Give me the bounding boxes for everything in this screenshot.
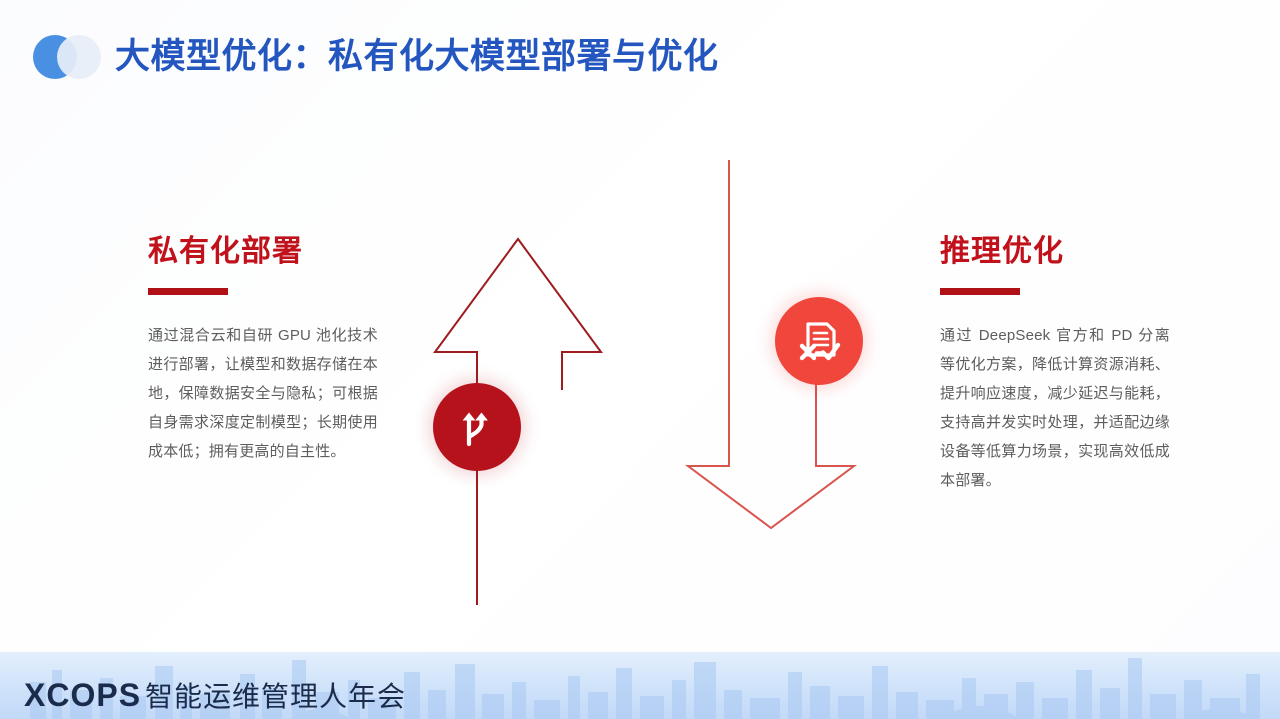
column-body-text: 通过 DeepSeek 官方和 PD 分离等优化方案，降低计算资源消耗、提升响应… xyxy=(940,321,1170,495)
logo-circle-secondary xyxy=(57,35,101,79)
branching-arrows-icon xyxy=(453,403,501,451)
brand-name: XCOPS xyxy=(24,679,141,711)
heading-underline-rule xyxy=(940,288,1020,295)
column-inference-optimization: 推理优化 通过 DeepSeek 官方和 PD 分离等优化方案，降低计算资源消耗… xyxy=(940,230,1170,495)
deploy-badge xyxy=(433,383,521,471)
slide-header: 大模型优化：私有化大模型部署与优化 xyxy=(0,0,1280,110)
two-overlapping-circles-logo-icon xyxy=(33,35,101,79)
slide-canvas: 大模型优化：私有化大模型部署与优化 私有化部署 通过混合云和自研 GPU 池化技… xyxy=(0,0,1280,719)
heading-underline-rule xyxy=(148,288,228,295)
footer-banner: XCOPS 智能运维管理人年会 xyxy=(0,652,1280,719)
column-private-deployment: 私有化部署 通过混合云和自研 GPU 池化技术进行部署，让模型和数据存储在本地，… xyxy=(148,230,378,466)
column-body-text: 通过混合云和自研 GPU 池化技术进行部署，让模型和数据存储在本地，保障数据安全… xyxy=(148,321,378,466)
document-check-cross-icon xyxy=(794,316,844,366)
column-heading: 推理优化 xyxy=(940,230,1170,274)
footer-brand-lockup: XCOPS 智能运维管理人年会 xyxy=(24,679,406,711)
page-title: 大模型优化：私有化大模型部署与优化 xyxy=(115,30,719,84)
inference-badge xyxy=(775,297,863,385)
brand-subtitle: 智能运维管理人年会 xyxy=(145,683,406,711)
column-heading: 私有化部署 xyxy=(148,230,378,274)
